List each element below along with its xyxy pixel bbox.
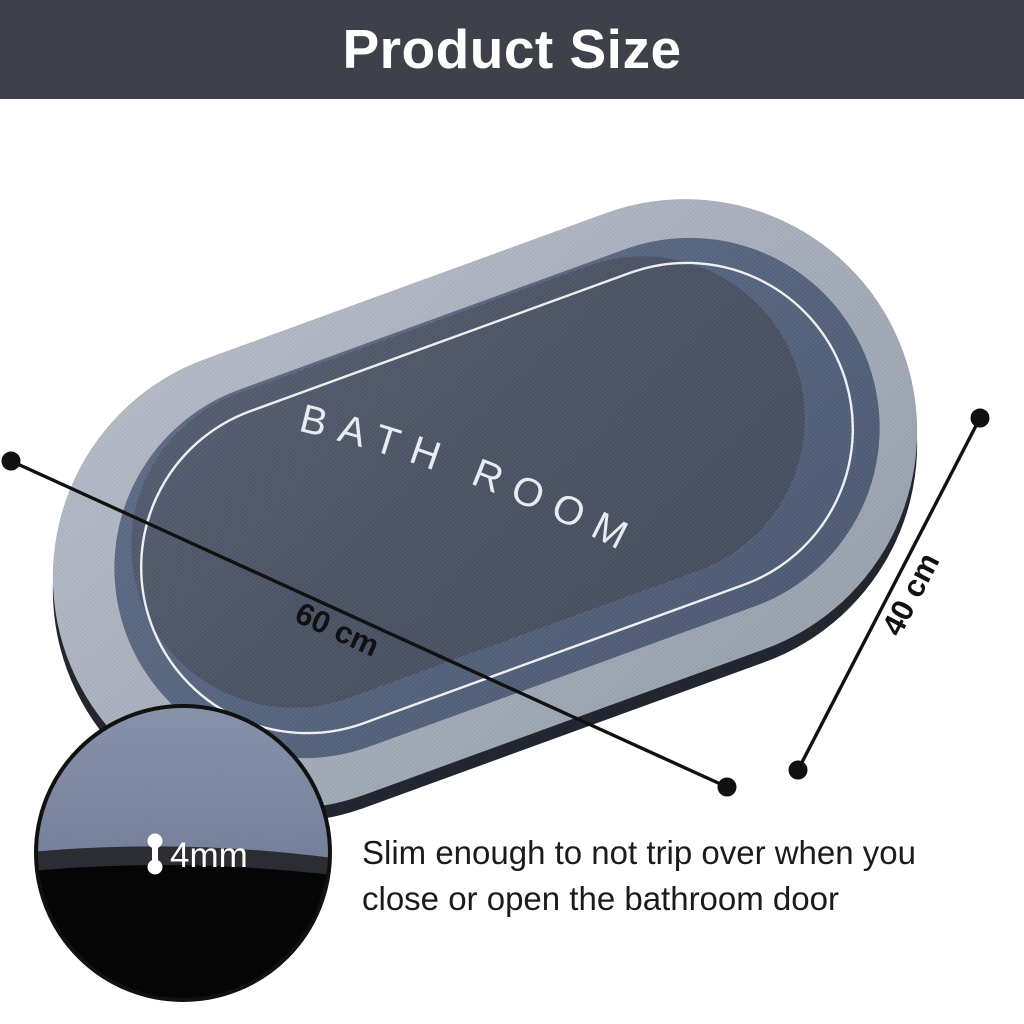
caption-line-1: Slim enough to not trip over when you <box>362 830 987 876</box>
product-illustration-stage: BATH ROOM 60 cm 40 cm <box>0 99 1024 1024</box>
caption-block: Slim enough to not trip over when you cl… <box>362 830 987 922</box>
page-title: Product Size <box>342 22 681 77</box>
thickness-label: 4mm <box>170 836 248 875</box>
caption-line-2: close or open the bathroom door <box>362 876 987 922</box>
dimension-label-width-group: 40 cm <box>875 547 947 641</box>
dimension-label-width: 40 cm <box>875 547 947 641</box>
header-banner: Product Size <box>0 0 1024 99</box>
